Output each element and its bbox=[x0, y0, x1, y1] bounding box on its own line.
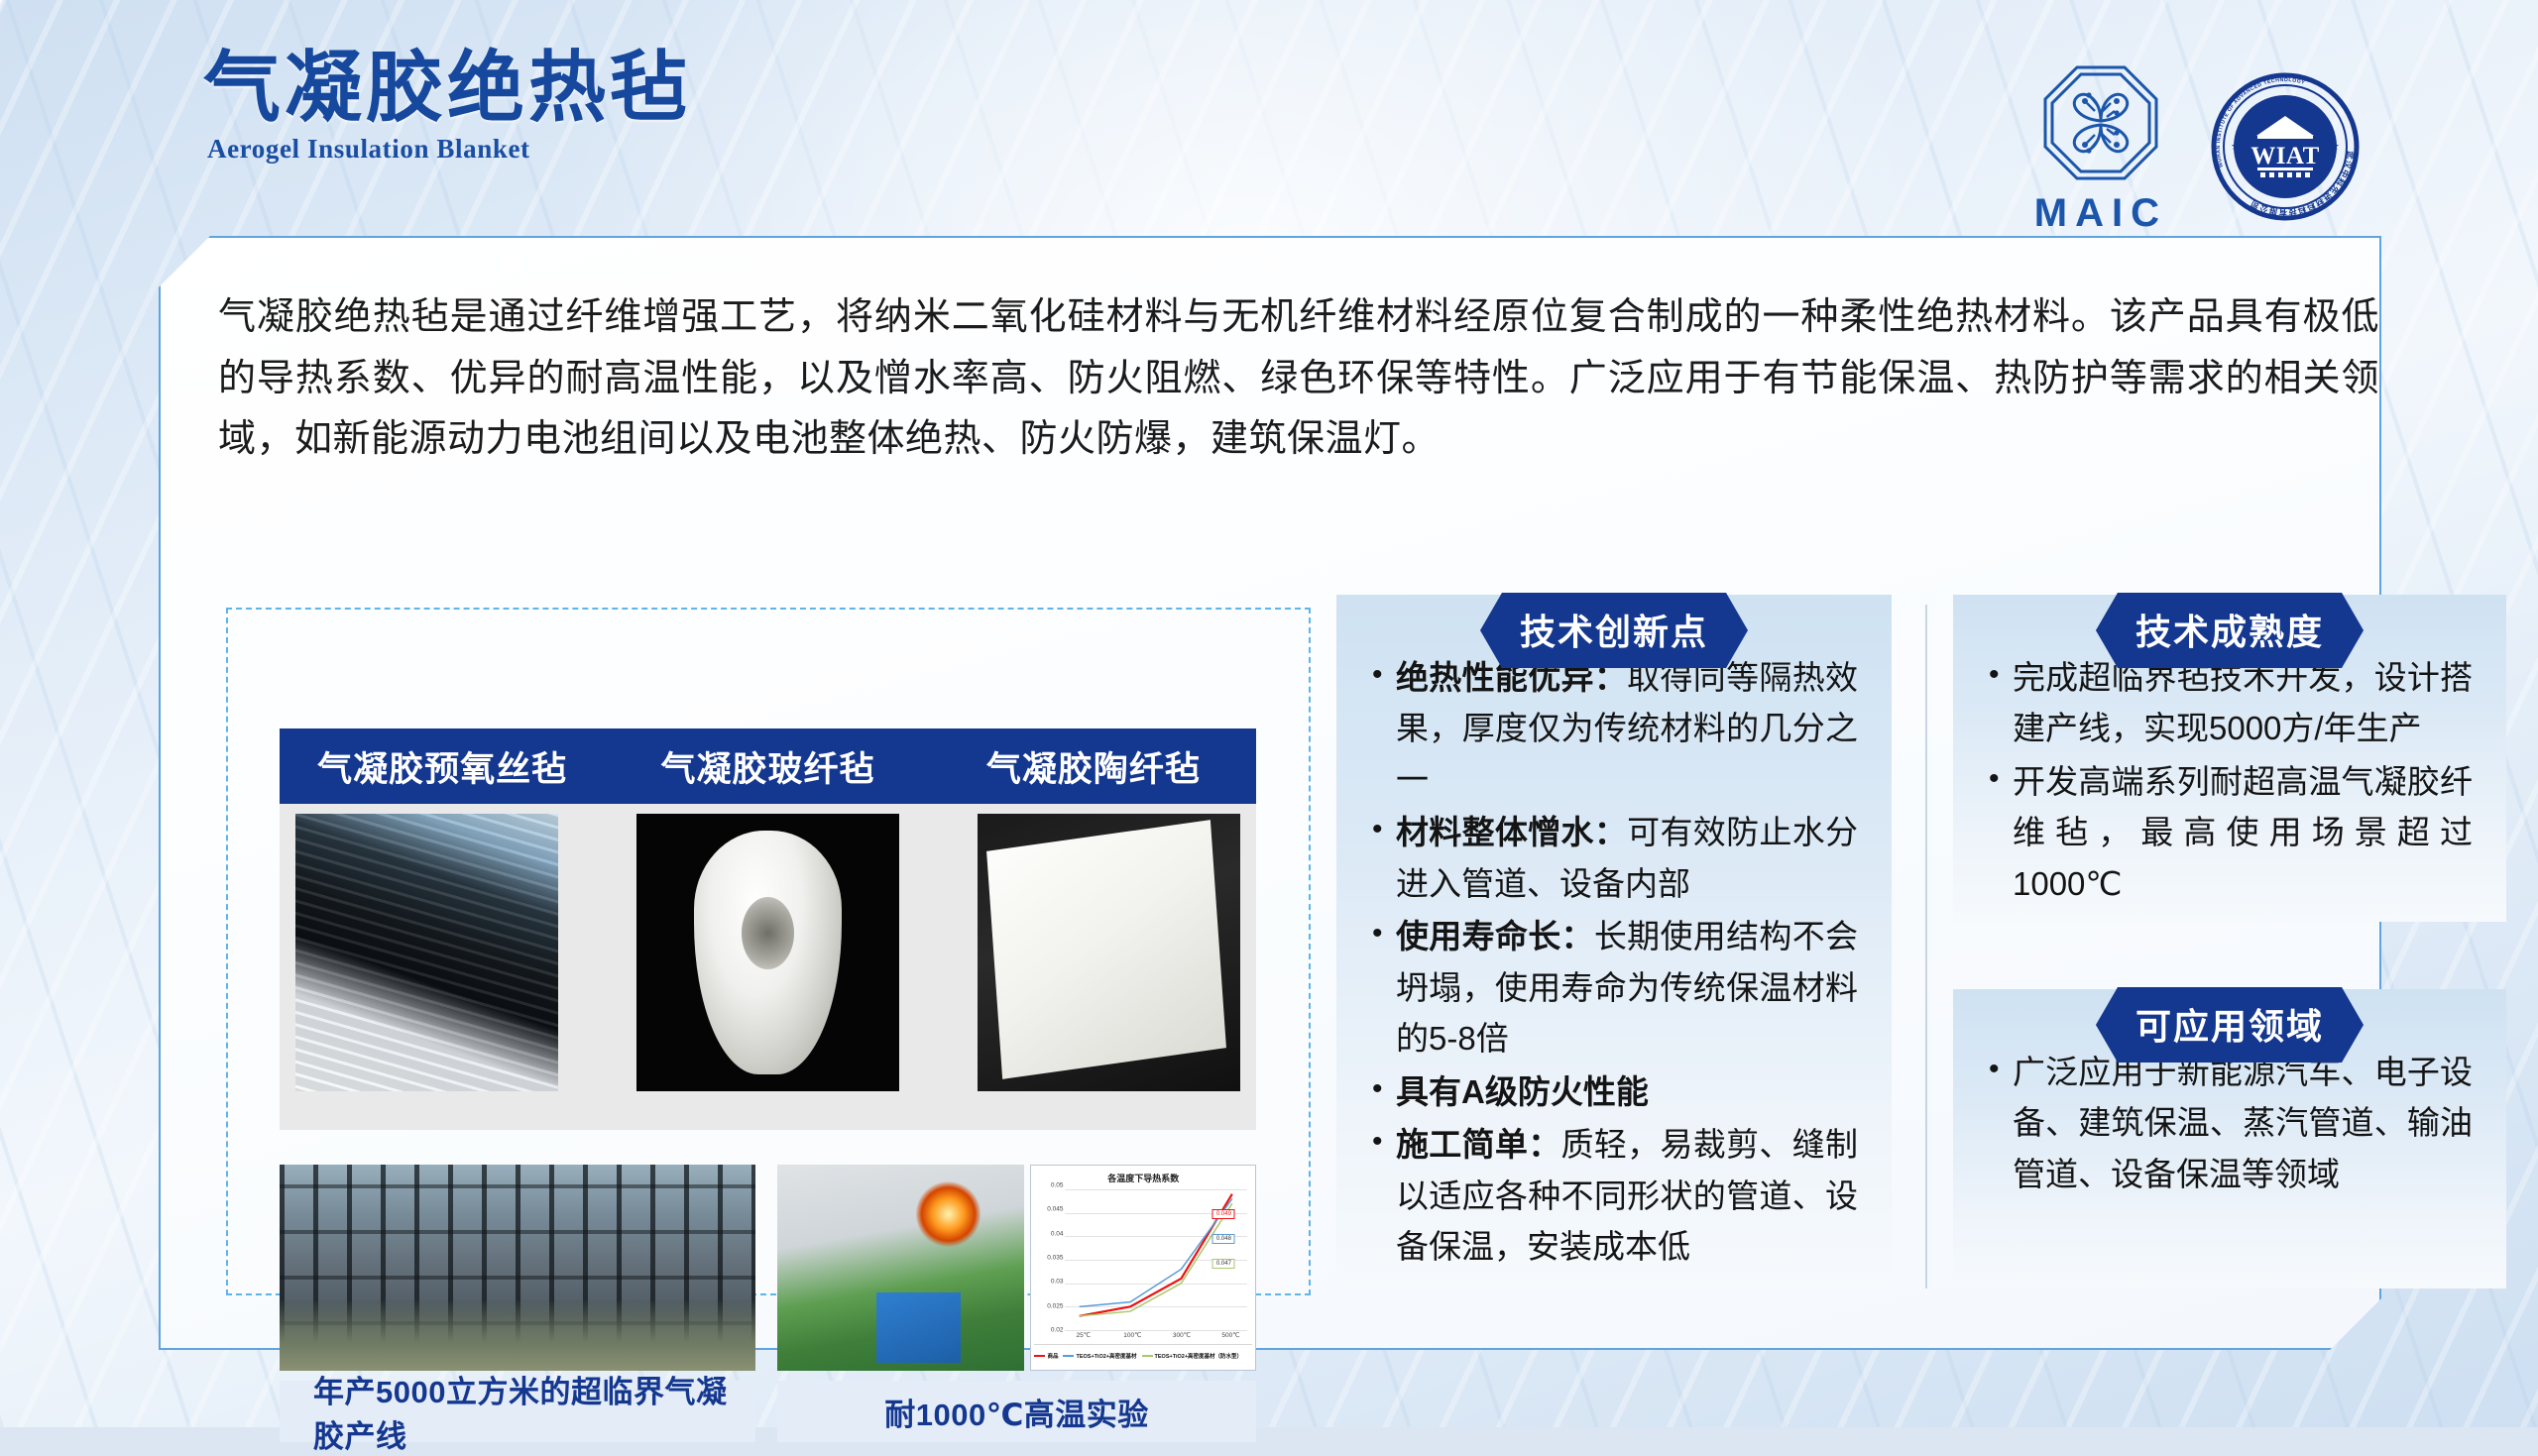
chart-endlabel-2: 0.047 bbox=[1212, 1259, 1235, 1269]
bullet-item: 广泛应用于新能源汽车、电子设备、建筑保温、蒸汽管道、输油管道、设备保温等领域 bbox=[1987, 1047, 2473, 1199]
product-photo-glassfiber-roll bbox=[636, 814, 899, 1091]
product-label-ceramicfiber: 气凝胶陶纤毡 bbox=[931, 741, 1256, 792]
chart-title: 各温度下导热系数 bbox=[1031, 1172, 1255, 1184]
panel-maturity: 技术成熟度 完成超临界毡技术开发，设计搭建产线，实现5000方/年生产开发高端系… bbox=[1953, 595, 2506, 922]
slide-header: 气凝胶绝热毡 Aerogel Insulation Blanket bbox=[0, 0, 2538, 236]
bullet-list-innovation: 绝热性能优异：取得同等隔热效果，厚度仅为传统材料的几分之一材料整体憎水：可有效防… bbox=[1370, 652, 1858, 1273]
svg-text:★: ★ bbox=[2330, 141, 2340, 153]
bullet-lead: 材料整体憎水： bbox=[1396, 814, 1627, 850]
info-panels: 技术创新点 绝热性能优异：取得同等隔热效果，厚度仅为传统材料的几分之一材料整体憎… bbox=[1336, 595, 2506, 1288]
product-header-bar: 气凝胶预氧丝毡 气凝胶玻纤毡 气凝胶陶纤毡 bbox=[280, 728, 1256, 804]
gallery-lower-row: 年产5000立方米的超临界气凝胶产线 各温度下导热系数 0.020.025 0.… bbox=[280, 1165, 1256, 1442]
product-photo-ceramicfiber-sheet bbox=[978, 814, 1240, 1091]
product-label-glassfiber: 气凝胶玻纤毡 bbox=[605, 741, 930, 792]
chart-endlabel-1: 0.048 bbox=[1212, 1234, 1235, 1244]
chart-line-2 bbox=[1080, 1203, 1232, 1316]
high-temp-test-block: 各温度下导热系数 0.020.025 0.030.035 0.040.045 0… bbox=[777, 1165, 1256, 1442]
intro-paragraph: 气凝胶绝热毡是通过纤维增强工艺，将纳米二氧化硅材料与无机纤维材料经原位复合制成的… bbox=[218, 287, 2379, 471]
chart-y-ticks: 0.020.025 0.030.035 0.040.045 0.05 bbox=[1033, 1185, 1065, 1330]
bullet-lead: 施工简单： bbox=[1396, 1126, 1561, 1163]
bullet-list-applications: 广泛应用于新能源汽车、电子设备、建筑保温、蒸汽管道、输油管道、设备保温等领域 bbox=[1987, 1047, 2473, 1199]
product-photo-preoxidized-felt bbox=[295, 814, 558, 1091]
panel-badge-maturity: 技术成熟度 bbox=[2096, 593, 2364, 668]
panel-innovation: 技术创新点 绝热性能优异：取得同等隔热效果，厚度仅为传统材料的几分之一材料整体憎… bbox=[1336, 595, 1892, 1288]
logo-group: MAIC 武汉中科先进材料科技有限公司 WUHAN INSTITUTE OF bbox=[2034, 59, 2360, 233]
title-block: 气凝胶绝热毡 Aerogel Insulation Blanket bbox=[203, 48, 691, 165]
photo-production-line bbox=[280, 1165, 755, 1371]
bullet-item: 具有A级防火性能 bbox=[1370, 1066, 1858, 1117]
caption-high-temp-test: 耐1000℃高温实验 bbox=[777, 1381, 1256, 1442]
panel-badge-innovation: 技术创新点 bbox=[1480, 593, 1748, 668]
panel-body-innovation: 绝热性能优异：取得同等隔热效果，厚度仅为传统材料的几分之一材料整体憎水：可有效防… bbox=[1336, 595, 1892, 1288]
page-title: 气凝胶绝热毡 bbox=[203, 48, 691, 128]
chart-legend: 商品 TEOS+TiO2+高密度基材 TEOS+TiO2+高密度基材（防水型） bbox=[1034, 1344, 1252, 1364]
panel-badge-applications: 可应用领域 bbox=[2096, 987, 2364, 1063]
maic-emblem-icon bbox=[2037, 59, 2164, 191]
wiat-seal-icon: 武汉中科先进材料科技有限公司 WUHAN INSTITUTE OF ADVANC… bbox=[2211, 72, 2360, 221]
bullet-lead: 使用寿命长： bbox=[1396, 918, 1594, 954]
gallery-panel: 气凝胶预氧丝毡 气凝胶玻纤毡 气凝胶陶纤毡 年产5000立方米的超临界气凝胶产线 bbox=[226, 608, 1311, 1295]
wiat-logo: 武汉中科先进材料科技有限公司 WUHAN INSTITUTE OF ADVANC… bbox=[2211, 72, 2360, 221]
product-label-preox: 气凝胶预氧丝毡 bbox=[280, 741, 605, 792]
legend-item-1: TEOS+TiO2+高密度基材 bbox=[1063, 1352, 1136, 1360]
bullet-lead: 具有A级防火性能 bbox=[1396, 1073, 1649, 1110]
product-images bbox=[280, 804, 1256, 1105]
photo-torch-test bbox=[777, 1165, 1024, 1371]
panel-divider bbox=[1925, 605, 1927, 1288]
bullet-item: 开发高端系列耐超高温气凝胶纤维毡，最高使用场景超过1000℃ bbox=[1987, 756, 2473, 909]
thermal-conductivity-chart: 各温度下导热系数 0.020.025 0.030.035 0.040.045 0… bbox=[1030, 1165, 1256, 1371]
bullet-item: 绝热性能优异：取得同等隔热效果，厚度仅为传统材料的几分之一 bbox=[1370, 652, 1858, 805]
page-subtitle: Aerogel Insulation Blanket bbox=[207, 134, 691, 165]
chart-x-ticks: 25℃ 100℃ 300℃ 500℃ bbox=[1065, 1331, 1247, 1343]
svg-text:WIAT: WIAT bbox=[2250, 143, 2320, 169]
production-line-block: 年产5000立方米的超临界气凝胶产线 bbox=[280, 1165, 755, 1442]
maic-logo: MAIC bbox=[2034, 59, 2167, 233]
chart-line-1 bbox=[1080, 1198, 1232, 1306]
bullet-item: 施工简单：质轻，易裁剪、缝制以适应各种不同形状的管道、设备保温，安装成本低 bbox=[1370, 1119, 1858, 1272]
panel-applications: 可应用领域 广泛应用于新能源汽车、电子设备、建筑保温、蒸汽管道、输油管道、设备保… bbox=[1953, 989, 2506, 1288]
bullet-list-maturity: 完成超临界毡技术开发，设计搭建产线，实现5000方/年生产开发高端系列耐超高温气… bbox=[1987, 652, 2473, 909]
caption-production-line: 年产5000立方米的超临界气凝胶产线 bbox=[280, 1381, 755, 1442]
product-showcase: 气凝胶预氧丝毡 气凝胶玻纤毡 气凝胶陶纤毡 bbox=[280, 728, 1256, 1130]
svg-text:★: ★ bbox=[2231, 141, 2241, 153]
legend-item-0: 商品 bbox=[1034, 1352, 1058, 1360]
bullet-item: 材料整体憎水：可有效防止水分进入管道、设备内部 bbox=[1370, 807, 1858, 909]
chart-endlabel-0: 0.049 bbox=[1212, 1209, 1235, 1219]
maic-wordmark: MAIC bbox=[2034, 193, 2167, 233]
bullet-item: 使用寿命长：长期使用结构不会坍塌，使用寿命为传统保温材料的5-8倍 bbox=[1370, 911, 1858, 1064]
slide-root: 气凝胶绝热毡 Aerogel Insulation Blanket bbox=[0, 0, 2538, 1427]
legend-item-2: TEOS+TiO2+高密度基材（防水型） bbox=[1142, 1352, 1243, 1360]
